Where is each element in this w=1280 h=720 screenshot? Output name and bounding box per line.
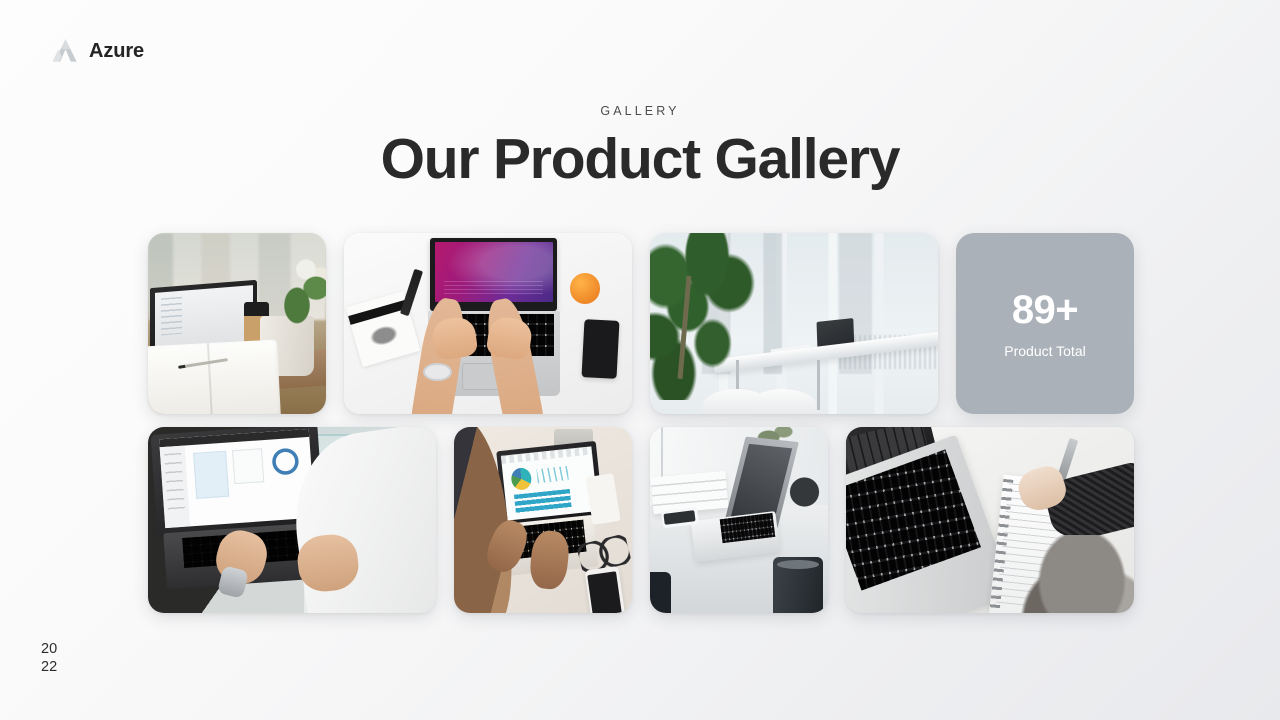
gallery-image-1[interactable]: [148, 233, 326, 414]
gallery-image-7[interactable]: [846, 427, 1134, 613]
stat-value: 89+: [1012, 290, 1078, 330]
photo-clean-desk: [650, 427, 828, 613]
gallery-grid: 89+ Product Total: [148, 233, 1136, 613]
year-line-2: 22: [41, 658, 57, 676]
year-line-1: 20: [41, 640, 57, 658]
gallery-image-6[interactable]: [650, 427, 828, 613]
gallery-image-5[interactable]: [454, 427, 632, 613]
gallery-top-row: 89+ Product Total: [148, 233, 1134, 414]
year-label: 20 22: [41, 640, 57, 676]
photo-writing-notebook: [846, 427, 1134, 613]
section-eyebrow: GALLERY: [0, 104, 1280, 119]
mountain-chevron-logo-icon: [52, 38, 79, 63]
photo-desk-notebook: [148, 233, 326, 414]
gallery-bottom-row: [148, 427, 1134, 613]
photo-office-window: [650, 233, 938, 414]
photo-analytics-typing: [454, 427, 632, 613]
product-total-stat-card[interactable]: 89+ Product Total: [956, 233, 1134, 414]
brand-logo[interactable]: Azure: [52, 38, 144, 63]
slide-canvas: Azure GALLERY Our Product Gallery: [0, 0, 1280, 720]
photo-topdown-typing: [344, 233, 632, 414]
gallery-image-2[interactable]: [344, 233, 632, 414]
gallery-image-3[interactable]: [650, 233, 938, 414]
page-title: Our Product Gallery: [0, 130, 1280, 190]
gallery-image-4[interactable]: [148, 427, 436, 613]
stat-label: Product Total: [1004, 344, 1085, 358]
header-block: GALLERY Our Product Gallery: [0, 104, 1280, 190]
photo-man-dashboard: [148, 427, 436, 613]
brand-name: Azure: [89, 41, 144, 61]
